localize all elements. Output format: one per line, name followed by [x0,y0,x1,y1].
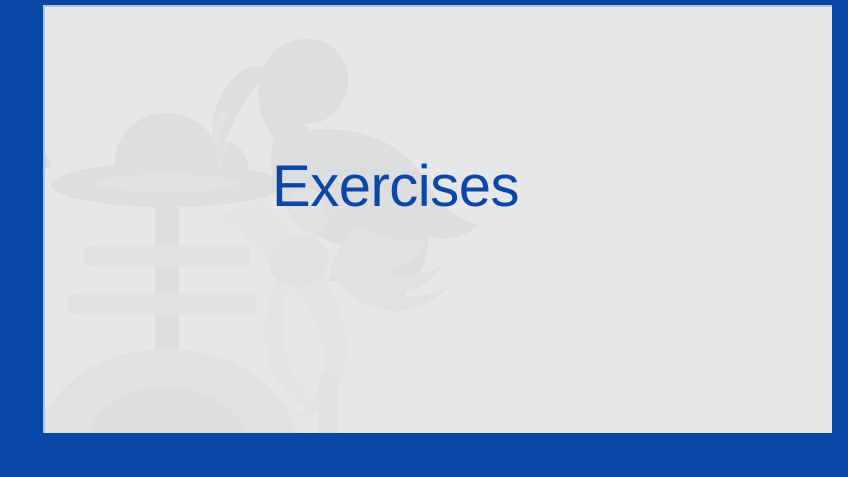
swan-and-fountain-watermark-icon [43,5,575,433]
presentation-slide: Exercises Prof. Josefa Gómez Pérez [0,0,848,477]
slide-title-text: Exercises [272,155,519,219]
slide-title: Exercises [45,155,832,219]
slide-content-panel: Exercises [43,5,832,433]
slide-footer: Prof. Josefa Gómez Pérez [0,433,848,477]
